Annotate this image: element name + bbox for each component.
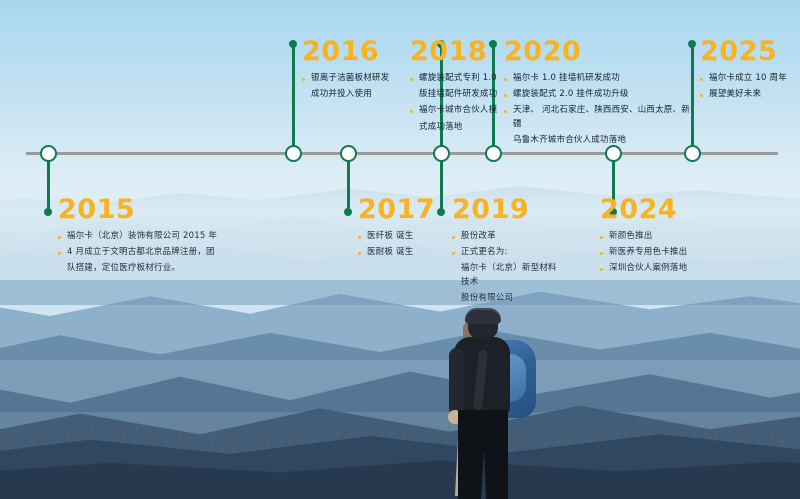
arm: [449, 348, 464, 416]
bullet-item-cont: 版挂墙配件研发成功: [410, 88, 505, 101]
bullet-item-cont: 4 月成立于文明古都北京品牌注册，团: [58, 246, 248, 259]
bullet-item: 螺旋装配式 2.0 挂件成功升级: [504, 88, 692, 101]
timeline-node-2020[interactable]: [485, 145, 502, 162]
bullet-list-2017: 医纤板 诞生 医耐板 诞生: [358, 230, 458, 259]
bullet-item-cont: 队搭建，定位医疗板材行业。: [58, 262, 248, 275]
timeline-entry-2015[interactable]: 2015 福尔卡（北京）装饰有限公司 2015 年 4 月成立于文明古都北京品牌…: [58, 196, 248, 279]
timeline-entry-2018[interactable]: 2018 螺旋装配式专利 1.0 版挂墙配件研发成功 福尔卡城市合伙人模 式成功…: [410, 38, 505, 137]
bullet-item-cont: 股份有限公司: [452, 292, 564, 305]
bullet-list-2015: 福尔卡（北京）装饰有限公司 2015 年 4 月成立于文明古都北京品牌注册，团 …: [58, 230, 248, 276]
bullet-item: 深圳合伙人案例落地: [600, 262, 730, 275]
bullet-list-2016: 银离子洁菌板材研发 成功并投入使用: [302, 72, 394, 101]
bullet-list-2019: 股份改革 正式更名为: 福尔卡（北京）新型材料技术 股份有限公司: [452, 230, 564, 305]
timeline-node-2018[interactable]: [433, 145, 450, 162]
stem-2017: [347, 160, 350, 212]
bullet-list-2020: 福尔卡 1.0 挂墙机研发成功 螺旋装配式 2.0 挂件成功升级 天津、 河北石…: [504, 72, 692, 147]
bullet-item-cont: 乌鲁木齐城市合伙人成功落地: [504, 134, 692, 147]
bullet-list-2025: 福尔卡成立 10 周年 展望美好未来: [700, 72, 796, 101]
timeline-entry-2020[interactable]: 2020 福尔卡 1.0 挂墙机研发成功 螺旋装配式 2.0 挂件成功升级 天津…: [504, 38, 692, 150]
timeline-node-2017[interactable]: [340, 145, 357, 162]
bullet-item: 福尔卡 1.0 挂墙机研发成功: [504, 72, 692, 85]
year-label-2025: 2025: [700, 38, 796, 65]
stem-2016: [292, 44, 295, 152]
timeline-node-2016[interactable]: [285, 145, 302, 162]
bullet-item: 新医养专用色卡推出: [600, 246, 730, 259]
bullet-item: 天津、 河北石家庄、陕西西安、山西太原、新疆: [504, 104, 692, 130]
bullet-item: 医耐板 诞生: [358, 246, 458, 259]
timeline-entry-2019[interactable]: 2019 股份改革 正式更名为: 福尔卡（北京）新型材料技术 股份有限公司: [452, 196, 564, 308]
bullet-item-cont: 式成功落地: [410, 121, 505, 134]
year-label-2017: 2017: [358, 196, 458, 223]
bullet-item-cont: 福尔卡（北京）新型材料技术: [452, 262, 564, 288]
year-label-2020: 2020: [504, 38, 692, 65]
bullet-item: 股份改革: [452, 230, 564, 243]
stem-2015: [47, 160, 50, 212]
timeline-axis: [26, 152, 778, 155]
year-label-2018: 2018: [410, 38, 505, 65]
bullet-item: 螺旋装配式专利 1.0: [410, 72, 505, 85]
bullet-item: 福尔卡城市合伙人模: [410, 104, 505, 117]
bullet-item: 福尔卡（北京）装饰有限公司 2015 年: [58, 230, 248, 243]
timeline-entry-2024[interactable]: 2024 新颜色推出 新医养专用色卡推出 深圳合伙人案例落地: [600, 196, 730, 279]
bullet-list-2018: 螺旋装配式专利 1.0 版挂墙配件研发成功 福尔卡城市合伙人模 式成功落地: [410, 72, 505, 134]
year-label-2015: 2015: [58, 196, 248, 223]
bullet-item: 医纤板 诞生: [358, 230, 458, 243]
bullet-item: 展望美好未来: [700, 88, 796, 101]
bullet-item: 新颜色推出: [600, 230, 730, 243]
cap: [465, 308, 501, 324]
timeline-entry-2017[interactable]: 2017 医纤板 诞生 医耐板 诞生: [358, 196, 458, 262]
year-label-2024: 2024: [600, 196, 730, 223]
bullet-list-2024: 新颜色推出 新医养专用色卡推出 深圳合伙人案例落地: [600, 230, 730, 276]
hiker-figure: [432, 310, 550, 499]
timeline-node-2015[interactable]: [40, 145, 57, 162]
timeline-entry-2016[interactable]: 2016 银离子洁菌板材研发 成功并投入使用: [302, 38, 394, 104]
bullet-item: 银离子洁菌板材研发: [302, 72, 394, 85]
bullet-item: 福尔卡成立 10 周年: [700, 72, 796, 85]
year-label-2019: 2019: [452, 196, 564, 223]
bullet-item-cont: 成功并投入使用: [302, 88, 394, 101]
timeline-entry-2025[interactable]: 2025 福尔卡成立 10 周年 展望美好未来: [700, 38, 796, 104]
timeline-infographic: 2015 福尔卡（北京）装饰有限公司 2015 年 4 月成立于文明古都北京品牌…: [0, 0, 800, 499]
legs: [458, 410, 508, 499]
year-label-2016: 2016: [302, 38, 394, 65]
bullet-item: 正式更名为:: [452, 246, 564, 259]
